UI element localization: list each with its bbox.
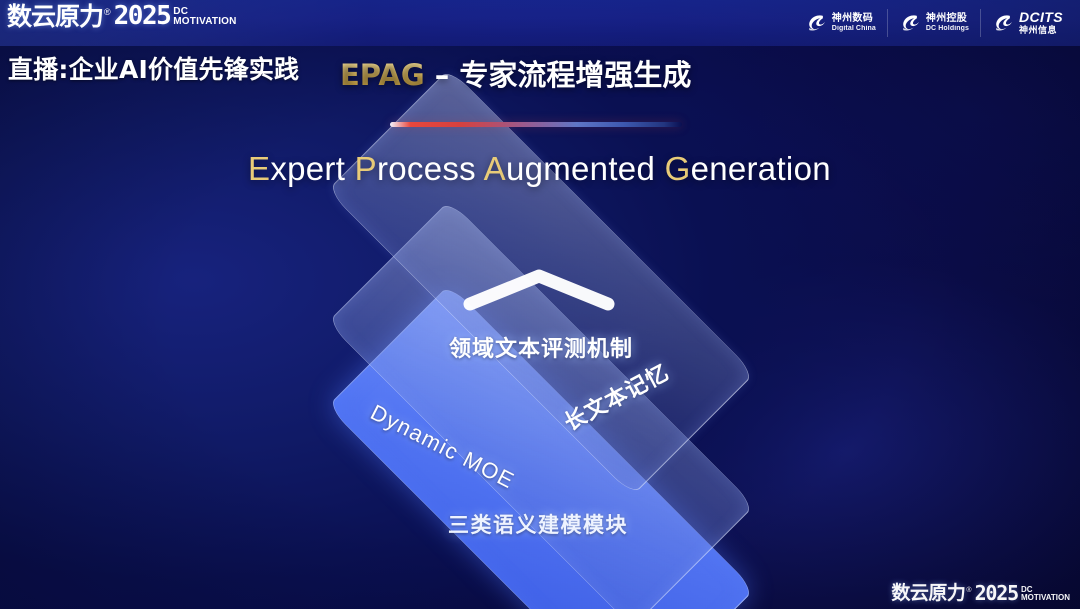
brandmark-motivation: MOTIVATION <box>173 17 236 27</box>
watermark-registered-mark: ® <box>966 587 971 594</box>
logo-digital-china-en: Digital China <box>832 25 876 33</box>
logo-dcits-cn: 神州信息 <box>1019 25 1063 36</box>
subtitle-word-4-rest: eneration <box>691 150 831 187</box>
logo-dcits-text: DCITS 神州信息 <box>1019 10 1063 35</box>
logo-dc-holdings-en: DC Holdings <box>926 25 969 33</box>
live-broadcast-strap: 直播:企业AI价值先锋实践 <box>8 50 299 86</box>
brandmark-chinese: 数云原力 <box>7 4 103 29</box>
logo-digital-china-text: 神州数码 Digital China <box>832 13 876 32</box>
subtitle-word-1-rest: xpert <box>270 150 345 187</box>
gradient-divider <box>390 122 682 127</box>
brandmark-dc-motivation: DC MOTIVATION <box>173 7 236 29</box>
subtitle-word-3-initial: A <box>484 150 506 187</box>
subtitle-word-2-rest: rocess <box>377 150 476 187</box>
watermark-motivation: MOTIVATION <box>1021 594 1070 602</box>
partner-logo-group: 神州数码 Digital China 神州控股 DC Holdings <box>794 6 1074 40</box>
page-title: EPAG – 专家流程增强生成 <box>340 52 691 94</box>
page-title-chinese: 专家流程增强生成 <box>459 58 691 92</box>
event-brandmark: 数云原力 ® 2025 DC MOTIVATION <box>7 3 237 29</box>
page-title-separator: – <box>425 58 460 92</box>
logo-dcits[interactable]: DCITS 神州信息 <box>980 9 1074 37</box>
dc-swirl-icon <box>899 12 921 34</box>
brandmark-registered-mark: ® <box>104 8 111 17</box>
logo-digital-china[interactable]: 神州数码 Digital China <box>794 9 887 37</box>
top-banner: 数云原力 ® 2025 DC MOTIVATION 神州数码 Digital C… <box>0 0 1080 46</box>
subtitle-word-2-initial: P <box>355 150 377 187</box>
watermark-chinese: 数云原力 <box>891 584 965 603</box>
watermark-dc-motivation: DC MOTIVATION <box>1021 586 1070 603</box>
logo-dcits-en: DCITS <box>1019 10 1063 25</box>
logo-dc-holdings[interactable]: 神州控股 DC Holdings <box>887 9 980 37</box>
dc-swirl-icon <box>805 12 827 34</box>
logo-digital-china-cn: 神州数码 <box>832 13 876 24</box>
logo-dc-holdings-cn: 神州控股 <box>926 13 969 24</box>
subtitle-word-4-initial: G <box>665 150 691 187</box>
logo-dc-holdings-text: 神州控股 DC Holdings <box>926 13 969 32</box>
subtitle-word-1-initial: E <box>248 150 270 187</box>
page-subtitle: Expert Process Augmented Generation <box>248 150 831 188</box>
brandmark-year: 2025 <box>114 3 171 29</box>
subtitle-word-3-rest: ugmented <box>506 150 655 187</box>
bottom-watermark: 数云原力 ® 2025 DC MOTIVATION <box>891 583 1070 603</box>
dc-swirl-icon <box>992 12 1014 34</box>
page-title-acronym: EPAG <box>340 58 425 92</box>
watermark-year: 2025 <box>975 583 1018 603</box>
slide-canvas: 数云原力 ® 2025 DC MOTIVATION 神州数码 Digital C… <box>0 0 1080 609</box>
